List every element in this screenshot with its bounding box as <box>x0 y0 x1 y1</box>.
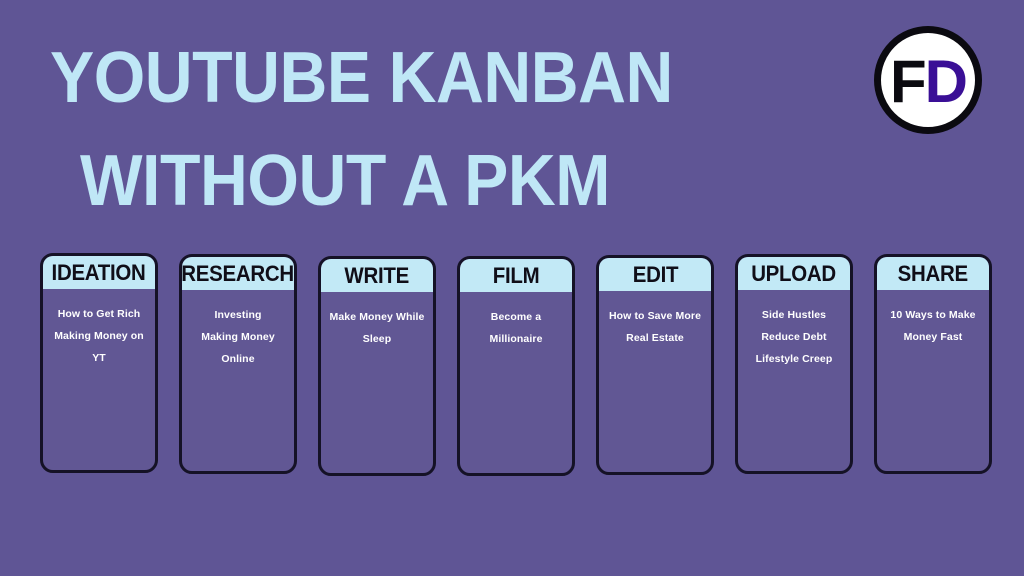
kanban-column-write[interactable]: WRITEMake Money WhileSleep <box>318 256 436 476</box>
kanban-card-line[interactable]: Reduce Debt <box>744 326 844 348</box>
brand-logo: FD <box>874 26 982 134</box>
kanban-column-header-label: EDIT <box>632 264 677 286</box>
kanban-column-header-label: IDEATION <box>52 262 146 284</box>
kanban-card-line[interactable]: Become a <box>466 306 566 328</box>
slide-canvas: YOUTUBE KANBAN WITHOUT A PKM FD IDEATION… <box>0 0 1024 576</box>
page-title-line-2: WITHOUT A PKM <box>80 145 623 218</box>
kanban-card-line[interactable]: Real Estate <box>605 327 705 349</box>
kanban-card-line[interactable]: Making Money <box>188 326 288 348</box>
kanban-column-header-label: UPLOAD <box>752 263 837 285</box>
kanban-board: IDEATIONHow to Get RichMaking Money onYT… <box>40 252 988 482</box>
kanban-card-line[interactable]: How to Get Rich <box>49 303 149 325</box>
kanban-column-ideation[interactable]: IDEATIONHow to Get RichMaking Money onYT <box>40 253 158 473</box>
kanban-column-header-label: WRITE <box>345 265 410 287</box>
kanban-column-research[interactable]: RESEARCHInvestingMaking MoneyOnline <box>179 254 297 474</box>
brand-logo-text: FD <box>890 52 966 112</box>
kanban-card-line[interactable]: Sleep <box>327 328 427 350</box>
kanban-column-header-label: FILM <box>493 265 540 287</box>
kanban-card-line[interactable]: Side Hustles <box>744 304 844 326</box>
kanban-card-line[interactable]: Millionaire <box>466 328 566 350</box>
kanban-column-edit[interactable]: EDITHow to Save MoreReal Estate <box>596 255 714 475</box>
kanban-column-upload[interactable]: UPLOADSide HustlesReduce DebtLifestyle C… <box>735 254 853 474</box>
kanban-column-header: FILM <box>460 259 572 292</box>
kanban-column-body: Side HustlesReduce DebtLifestyle Creep <box>738 290 850 471</box>
kanban-card-line[interactable]: 10 Ways to Make <box>883 304 983 326</box>
kanban-card-line[interactable]: Money Fast <box>883 326 983 348</box>
kanban-card-line[interactable]: How to Save More <box>605 305 705 327</box>
kanban-column-body: 10 Ways to MakeMoney Fast <box>877 290 989 471</box>
kanban-column-header-label: RESEARCH <box>182 263 295 285</box>
kanban-column-body: Become aMillionaire <box>460 292 572 473</box>
kanban-column-header: UPLOAD <box>738 257 850 290</box>
kanban-card-line[interactable]: Investing <box>188 304 288 326</box>
brand-logo-letter-f: F <box>890 52 925 112</box>
kanban-column-body: Make Money WhileSleep <box>321 292 433 473</box>
kanban-column-share[interactable]: SHARE10 Ways to MakeMoney Fast <box>874 254 992 474</box>
page-title: YOUTUBE KANBAN WITHOUT A PKM <box>50 42 670 219</box>
kanban-card-line[interactable]: Making Money on <box>49 325 149 347</box>
kanban-column-body: How to Get RichMaking Money onYT <box>43 289 155 470</box>
kanban-column-body: InvestingMaking MoneyOnline <box>182 290 294 471</box>
kanban-card-line[interactable]: Make Money While <box>327 306 427 328</box>
page-title-line-1: YOUTUBE KANBAN <box>50 42 620 115</box>
kanban-column-body: How to Save MoreReal Estate <box>599 291 711 472</box>
kanban-column-header: IDEATION <box>43 256 155 289</box>
kanban-card-line[interactable]: YT <box>49 347 149 369</box>
kanban-card-line[interactable]: Online <box>188 348 288 370</box>
kanban-column-header: SHARE <box>877 257 989 290</box>
brand-logo-letter-d: D <box>925 52 966 112</box>
kanban-column-film[interactable]: FILMBecome aMillionaire <box>457 256 575 476</box>
kanban-column-header-label: SHARE <box>898 263 968 285</box>
kanban-column-header: RESEARCH <box>182 257 294 290</box>
kanban-column-header: EDIT <box>599 258 711 291</box>
kanban-column-header: WRITE <box>321 259 433 292</box>
kanban-card-line[interactable]: Lifestyle Creep <box>744 348 844 370</box>
